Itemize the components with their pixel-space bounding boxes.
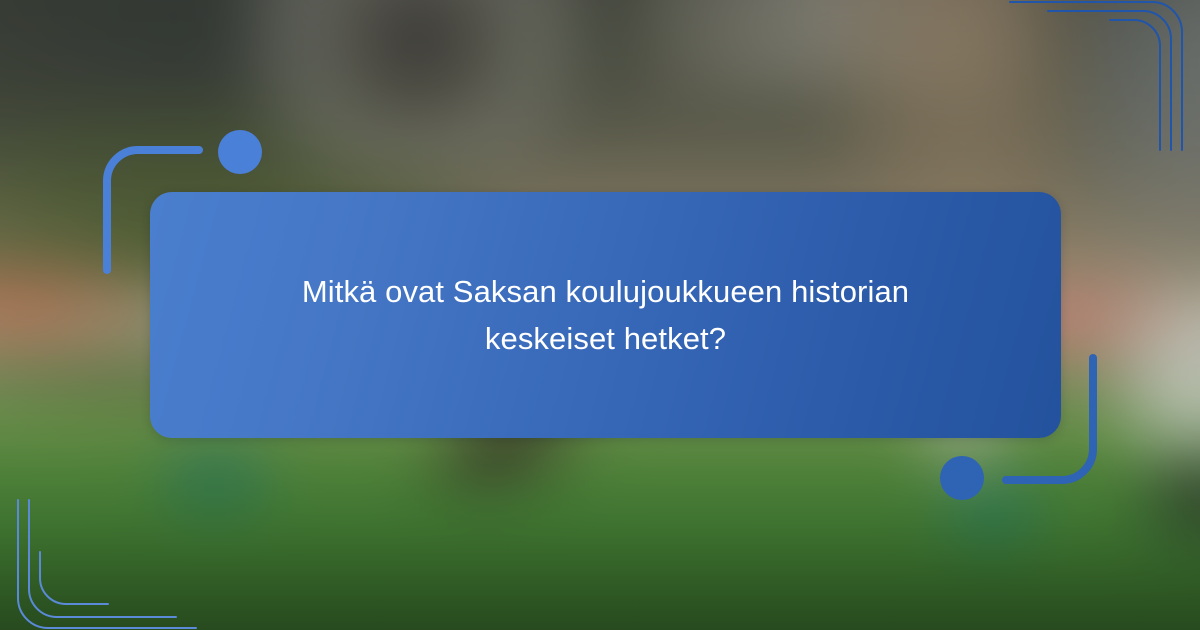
social-card-canvas: Mitkä ovat Saksan koulujoukkueen histori…: [0, 0, 1200, 630]
question-text: Mitkä ovat Saksan koulujoukkueen histori…: [221, 268, 991, 362]
question-card: Mitkä ovat Saksan koulujoukkueen histori…: [150, 192, 1061, 438]
